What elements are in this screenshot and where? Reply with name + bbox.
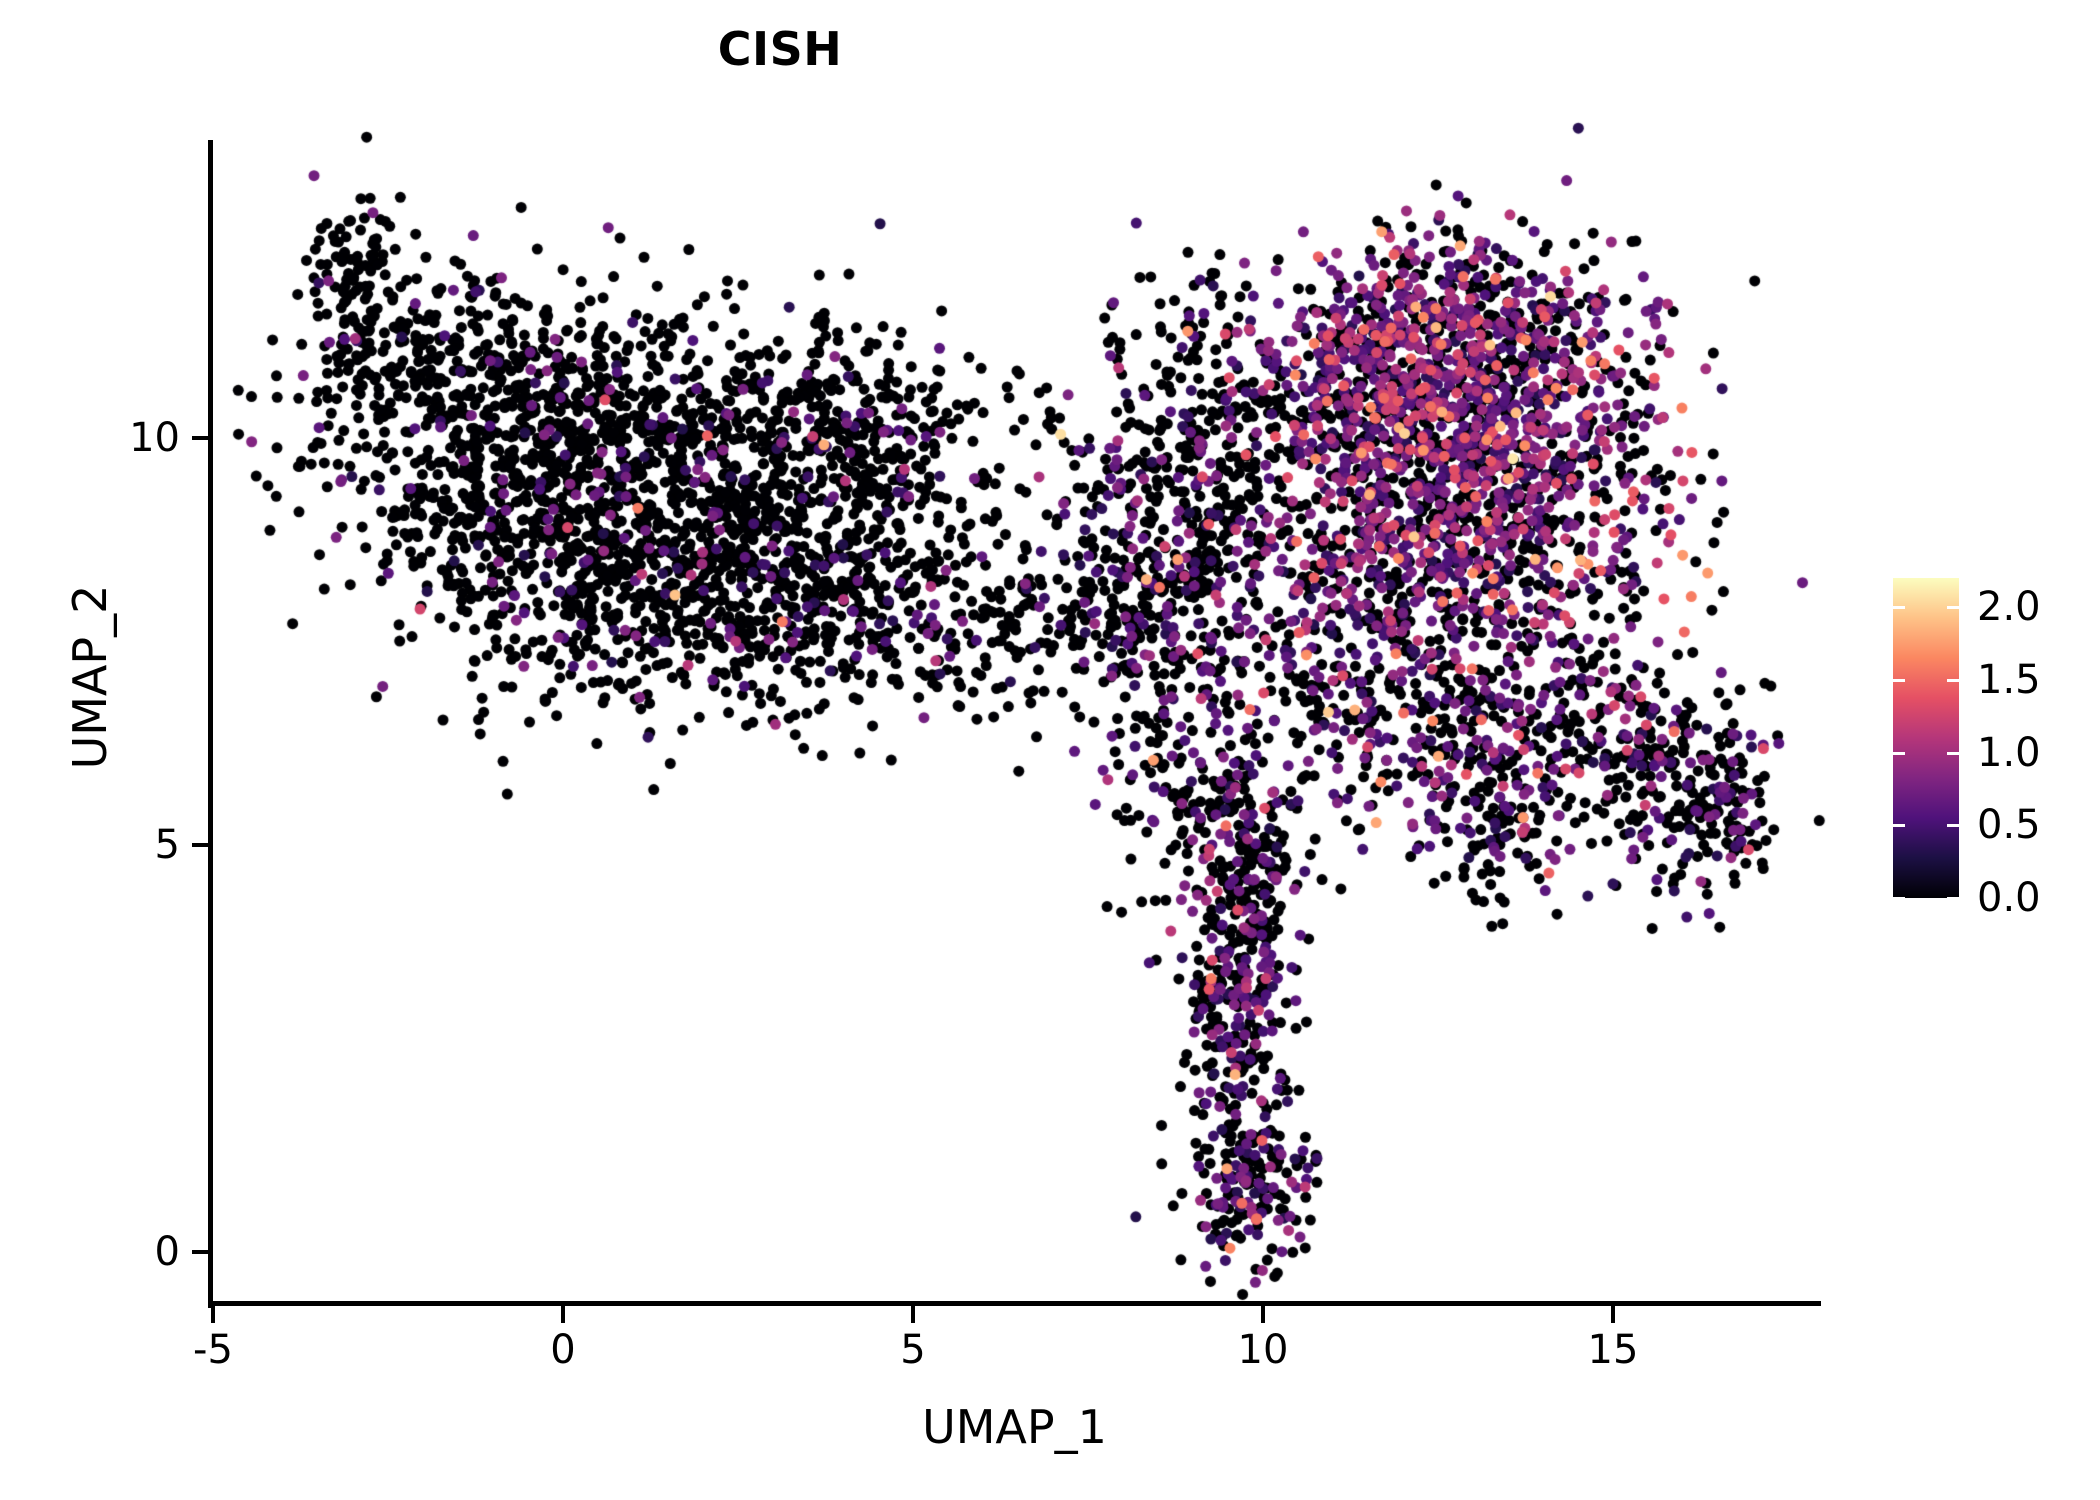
colorbar-tick-label: 1.0	[1977, 730, 2041, 776]
colorbar-tick-mark	[1893, 606, 1905, 609]
colorbar-tick-mark	[1893, 752, 1905, 755]
x-tick-mark	[561, 1306, 565, 1323]
x-axis-spine	[208, 1301, 1821, 1306]
y-axis-spine	[208, 140, 213, 1308]
y-tick-label: 0	[155, 1229, 180, 1275]
y-tick-mark	[192, 436, 209, 440]
colorbar-tick-label: 2.0	[1977, 584, 2041, 630]
colorbar-tick-label: 0.5	[1977, 802, 2041, 848]
x-tick-label: 10	[1238, 1327, 1289, 1373]
x-tick-label: 5	[900, 1327, 925, 1373]
y-tick-label: 5	[155, 822, 180, 868]
colorbar-tick-label: 0.0	[1977, 875, 2041, 921]
x-axis-label: UMAP_1	[208, 1400, 1821, 1454]
colorbar-tick-label: 1.5	[1977, 657, 2041, 703]
y-axis-label: UMAP_2	[63, 327, 117, 1027]
colorbar-tick-mark	[1947, 897, 1959, 900]
x-tick-label: -5	[193, 1327, 233, 1373]
colorbar-tick-mark	[1947, 752, 1959, 755]
colorbar-gradient	[1893, 578, 1959, 898]
x-tick-label: 15	[1588, 1327, 1639, 1373]
colorbar-tick-mark	[1893, 824, 1905, 827]
colorbar-tick-mark	[1947, 824, 1959, 827]
colorbar: 0.00.51.01.52.0	[1893, 578, 1959, 898]
colorbar-tick-mark	[1947, 606, 1959, 609]
y-tick-mark	[192, 843, 209, 847]
x-tick-mark	[911, 1306, 915, 1323]
y-tick-label: 10	[129, 415, 180, 461]
umap-scatter-figure: CISH -5051015 0510 UMAP_1 UMAP_2 0.00.51…	[0, 0, 2100, 1500]
x-tick-label: 0	[550, 1327, 575, 1373]
scatter-plot-canvas	[0, 0, 2100, 1500]
colorbar-tick-mark	[1947, 679, 1959, 682]
y-tick-mark	[192, 1250, 209, 1254]
colorbar-tick-mark	[1893, 897, 1905, 900]
colorbar-tick-mark	[1893, 679, 1905, 682]
x-tick-mark	[1611, 1306, 1615, 1323]
x-tick-mark	[1261, 1306, 1265, 1323]
x-tick-mark	[211, 1306, 215, 1323]
